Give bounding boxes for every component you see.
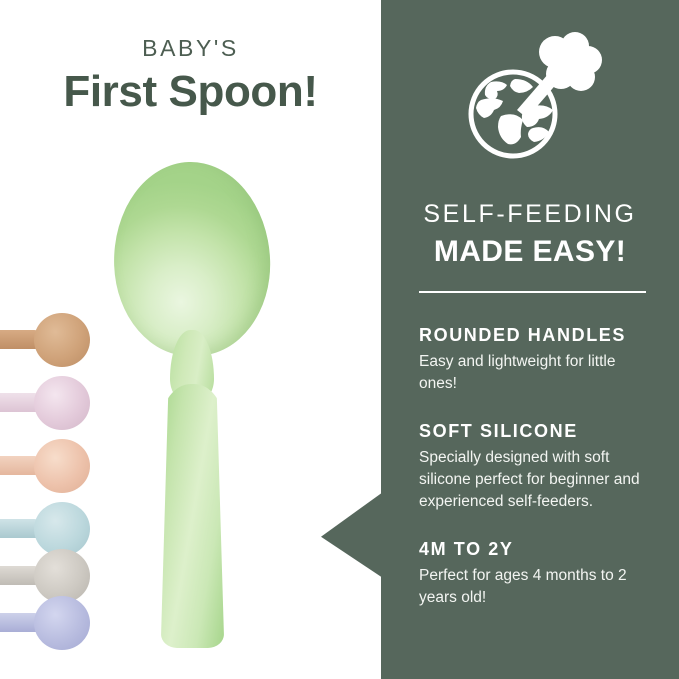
page-title: BABY'S First Spoon!: [0, 36, 381, 118]
divider: [419, 291, 646, 293]
product-infographic: BABY'S First Spoon!: [0, 0, 679, 679]
spoon-bowl: [34, 376, 90, 430]
feature-title: 4M TO 2Y: [419, 539, 651, 560]
left-panel: BABY'S First Spoon!: [0, 0, 381, 679]
feature-list: ROUNDED HANDLES Easy and lightweight for…: [419, 325, 651, 635]
brand-line-2: MADE EASY!: [381, 235, 679, 269]
title-eyebrow: BABY'S: [0, 36, 381, 61]
spoon-bowl: [34, 313, 90, 367]
brand-line-1: SELF-FEEDING: [381, 200, 679, 229]
feature-body: Easy and lightweight for little ones!: [419, 351, 651, 395]
side-spoon-periwinkle: [0, 596, 90, 650]
feature-title: ROUNDED HANDLES: [419, 325, 651, 346]
side-spoon-peach: [0, 439, 90, 493]
feature-body: Perfect for ages 4 months to 2 years old…: [419, 565, 651, 609]
spoon-bowl: [34, 502, 90, 556]
title-main: First Spoon!: [0, 67, 381, 118]
spoon-bowl: [34, 549, 90, 603]
feature-item: SOFT SILICONE Specially designed with so…: [419, 421, 651, 513]
side-spoon-blue: [0, 502, 90, 556]
feature-body: Specially designed with soft silicone pe…: [419, 447, 651, 513]
side-spoon-gray: [0, 549, 90, 603]
feature-title: SOFT SILICONE: [419, 421, 651, 442]
main-spoon-bowl: [111, 159, 274, 358]
right-panel: SELF-FEEDING MADE EASY! ROUNDED HANDLES …: [381, 0, 679, 679]
spoon-bowl: [34, 596, 90, 650]
main-spoon-brand-text: eco rascals: [244, 483, 256, 593]
side-spoon-pink: [0, 376, 90, 430]
spoon-bowl: [34, 439, 90, 493]
main-spoon-handle: eco rascals: [161, 384, 224, 648]
globe-with-tree-icon: [381, 22, 679, 172]
feature-item: ROUNDED HANDLES Easy and lightweight for…: [419, 325, 651, 395]
main-spoon-green: eco rascals: [114, 162, 270, 649]
side-spoon-caramel: [0, 313, 90, 367]
feature-item: 4M TO 2Y Perfect for ages 4 months to 2 …: [419, 539, 651, 609]
